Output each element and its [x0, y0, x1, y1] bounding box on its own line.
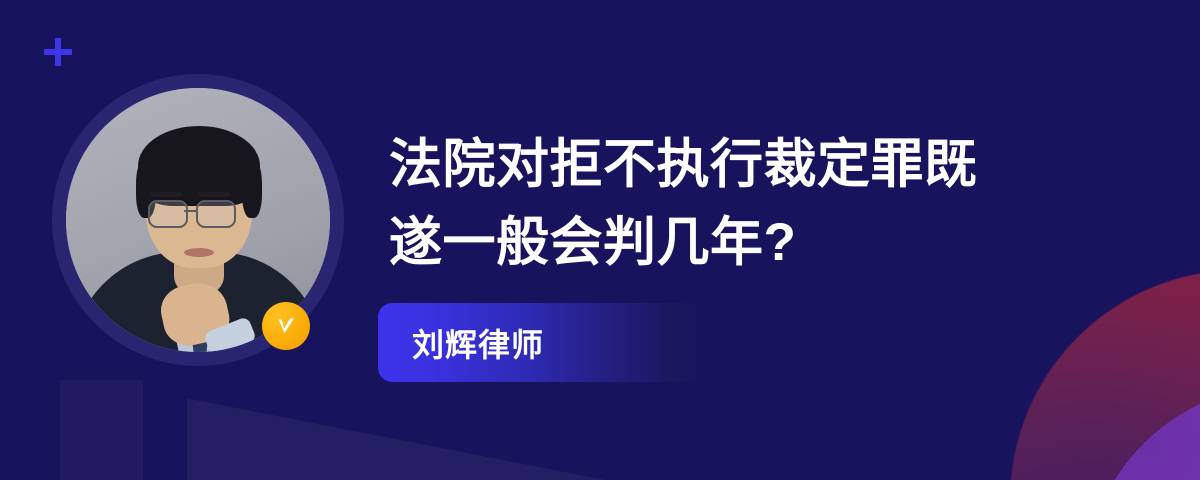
plus-icon [44, 38, 72, 66]
portrait-mouth [184, 248, 214, 257]
portrait-brow-left [150, 192, 182, 197]
lawyer-name-badge: 刘辉律师 [378, 303, 710, 382]
portrait-brow-right [198, 192, 230, 197]
decorative-bar [60, 380, 150, 480]
check-v-icon [271, 311, 301, 341]
portrait-glasses-left [148, 200, 188, 228]
decorative-wedge [185, 398, 605, 480]
lawyer-name-label: 刘辉律师 [412, 320, 544, 366]
page-title: 法院对拒不执行裁定罪既 遂一般会判几年? [389, 126, 1079, 282]
portrait-glasses-bridge [184, 210, 196, 212]
lawyer-question-banner: 法院对拒不执行裁定罪既 遂一般会判几年? 刘辉律师 [0, 0, 1200, 480]
decorative-stem [143, 368, 187, 480]
verified-badge [262, 302, 310, 350]
portrait-glasses-right [196, 200, 236, 228]
